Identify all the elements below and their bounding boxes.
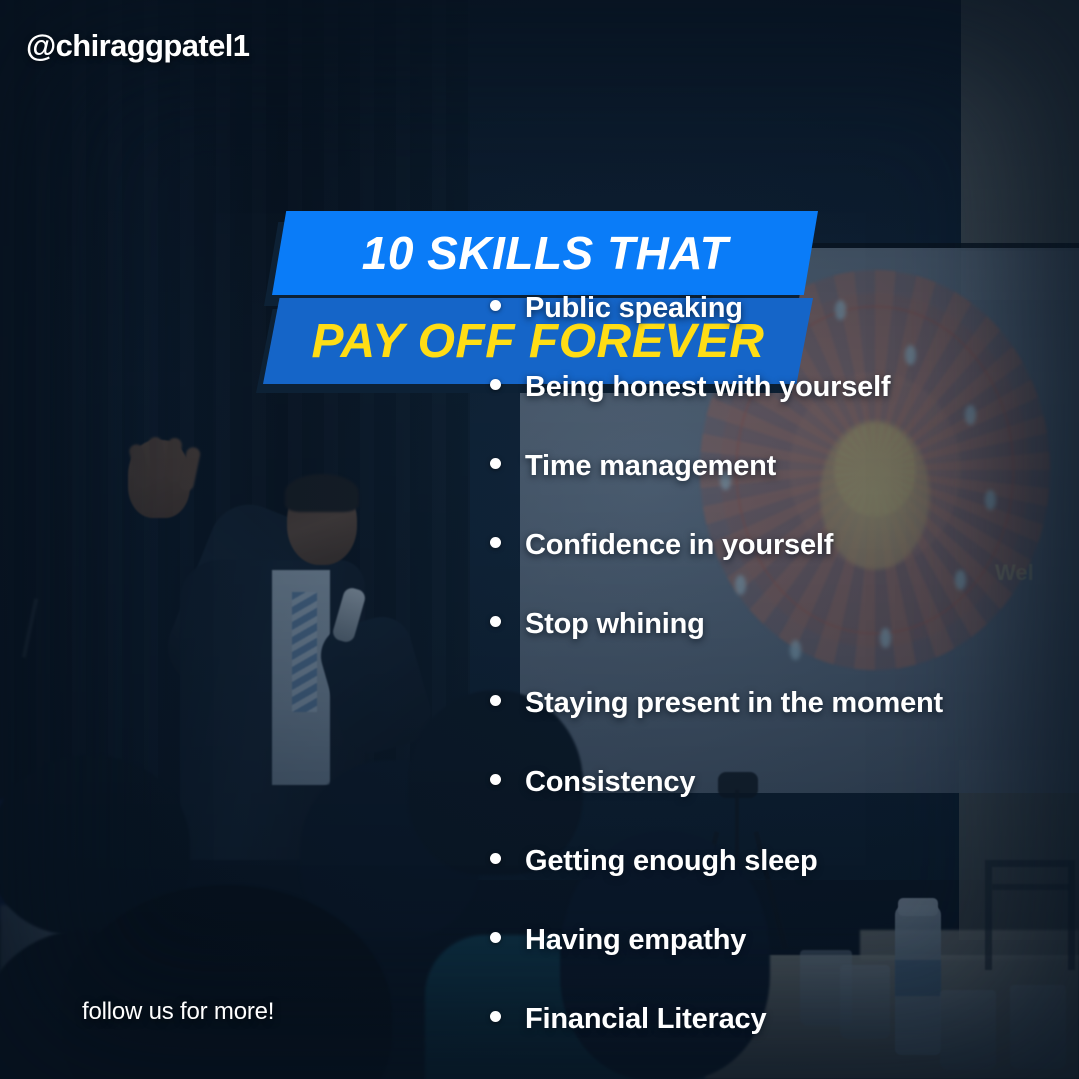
bullet-icon: [490, 300, 501, 311]
list-item: Consistency: [490, 766, 1079, 845]
list-item: Staying present in the moment: [490, 687, 1079, 766]
list-item: Having empathy: [490, 924, 1079, 1003]
list-item: Being honest with yourself: [490, 371, 1079, 450]
title-banner-group: 10 SKILLS THAT PAY OFF FOREVER: [0, 104, 1079, 300]
skill-label: Financial Literacy: [525, 1003, 766, 1036]
skill-label: Public speaking: [525, 292, 743, 325]
skill-label: Time management: [525, 450, 776, 483]
bullet-icon: [490, 458, 501, 469]
bullet-icon: [490, 1011, 501, 1022]
bullet-icon: [490, 537, 501, 548]
bullet-icon: [490, 932, 501, 943]
list-item: Getting enough sleep: [490, 845, 1079, 924]
bullet-icon: [490, 853, 501, 864]
title-line1-banner: 10 SKILLS THAT: [272, 211, 818, 295]
skill-label: Having empathy: [525, 924, 746, 957]
social-post-card: Wel: [0, 0, 1079, 1079]
list-item: Financial Literacy: [490, 1003, 1079, 1079]
skill-label: Consistency: [525, 766, 695, 799]
bullet-icon: [490, 695, 501, 706]
follow-cta[interactable]: follow us for more!: [82, 998, 274, 1026]
list-item: Time management: [490, 450, 1079, 529]
skill-label: Being honest with yourself: [525, 371, 890, 404]
list-item: Confidence in yourself: [490, 529, 1079, 608]
bullet-icon: [490, 379, 501, 390]
skill-label: Getting enough sleep: [525, 845, 817, 878]
skill-label: Staying present in the moment: [525, 687, 943, 720]
bullet-icon: [490, 774, 501, 785]
account-handle[interactable]: @chiraggpatel1: [26, 28, 249, 64]
skills-list: Public speaking Being honest with yourse…: [490, 292, 1079, 1079]
skill-label: Confidence in yourself: [525, 529, 833, 562]
list-item: Public speaking: [490, 292, 1079, 371]
skill-label: Stop whining: [525, 608, 705, 641]
list-item: Stop whining: [490, 608, 1079, 687]
bullet-icon: [490, 616, 501, 627]
